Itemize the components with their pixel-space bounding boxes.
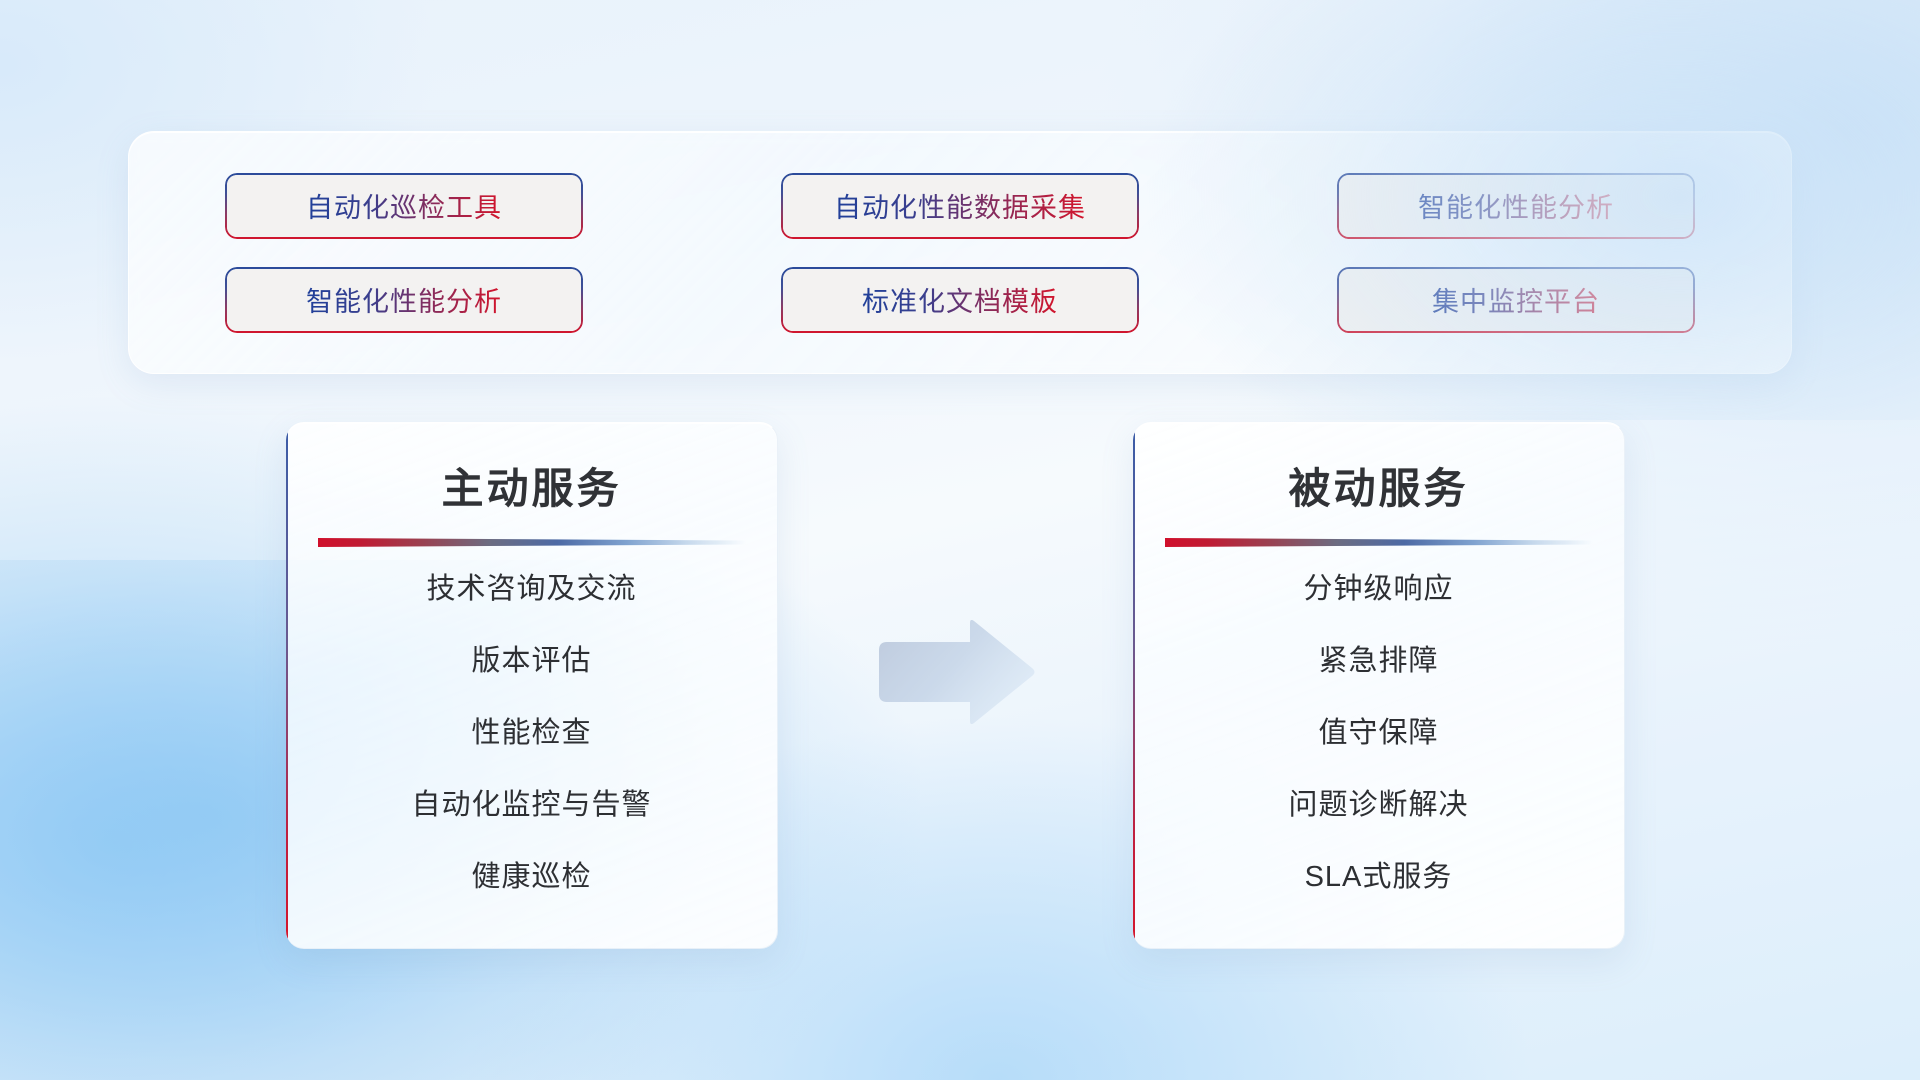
pill-surface: 标准化文档模板	[783, 269, 1137, 331]
capability-pill-label: 自动化性能数据采集	[834, 186, 1086, 225]
capability-pill-label: 智能化性能分析	[306, 280, 502, 319]
capability-panel: 自动化巡检工具 自动化性能数据采集 智能化性能分析 智能化性能分析	[128, 131, 1792, 374]
list-item: 技术咨询及交流	[286, 575, 777, 604]
service-card-proactive: 主动服务 技术咨询及交流 版本评估 性能检查 自动化监控与告警 健康巡检	[286, 422, 778, 949]
card-divider	[1165, 538, 1593, 547]
capability-pill-automation-inspection-tool[interactable]: 自动化巡检工具	[225, 173, 583, 239]
capability-pill-automation-performance-data-collection[interactable]: 自动化性能数据采集	[781, 173, 1139, 239]
card-title: 主动服务	[286, 455, 777, 516]
list-item: 分钟级响应	[1133, 575, 1624, 604]
capability-pill-intelligent-performance-analysis[interactable]: 智能化性能分析	[1337, 173, 1695, 239]
capability-pill-label: 标准化文档模板	[862, 280, 1058, 319]
arrow-right-icon	[873, 620, 1036, 725]
capability-pill-intelligent-performance-analysis-2[interactable]: 智能化性能分析	[225, 267, 583, 333]
capability-pill-label: 智能化性能分析	[1418, 186, 1614, 225]
list-item: 健康巡检	[286, 863, 777, 892]
divider-gradient-bar	[1165, 538, 1593, 547]
card-title: 被动服务	[1133, 455, 1624, 516]
list-item: 性能检查	[286, 719, 777, 748]
list-item: 版本评估	[286, 647, 777, 676]
service-card-reactive: 被动服务 分钟级响应 紧急排障 值守保障 问题诊断解决 SLA式服务	[1133, 422, 1625, 949]
pill-surface: 智能化性能分析	[227, 269, 581, 331]
slide-canvas: 自动化巡检工具 自动化性能数据采集 智能化性能分析 智能化性能分析	[0, 0, 1920, 1080]
list-item: 问题诊断解决	[1133, 791, 1624, 820]
capability-pill-label: 集中监控平台	[1432, 280, 1600, 319]
card-divider	[318, 538, 746, 547]
list-item: 自动化监控与告警	[286, 791, 777, 820]
capability-pill-standardized-document-template[interactable]: 标准化文档模板	[781, 267, 1139, 333]
pill-surface: 自动化性能数据采集	[783, 175, 1137, 237]
list-item: SLA式服务	[1133, 863, 1624, 892]
pill-surface: 自动化巡检工具	[227, 175, 581, 237]
divider-gradient-bar	[318, 538, 746, 547]
list-item: 值守保障	[1133, 719, 1624, 748]
pill-surface: 集中监控平台	[1339, 269, 1693, 331]
capability-pill-centralized-monitoring-platform[interactable]: 集中监控平台	[1337, 267, 1695, 333]
capability-row-2: 智能化性能分析 标准化文档模板 集中监控平台	[129, 267, 1791, 333]
list-item: 紧急排障	[1133, 647, 1624, 676]
service-item-list: 分钟级响应 紧急排障 值守保障 问题诊断解决 SLA式服务	[1133, 575, 1624, 892]
capability-row-1: 自动化巡检工具 自动化性能数据采集 智能化性能分析	[129, 173, 1791, 239]
service-item-list: 技术咨询及交流 版本评估 性能检查 自动化监控与告警 健康巡检	[286, 575, 777, 892]
capability-pill-label: 自动化巡检工具	[306, 186, 502, 225]
pill-surface: 智能化性能分析	[1339, 175, 1693, 237]
